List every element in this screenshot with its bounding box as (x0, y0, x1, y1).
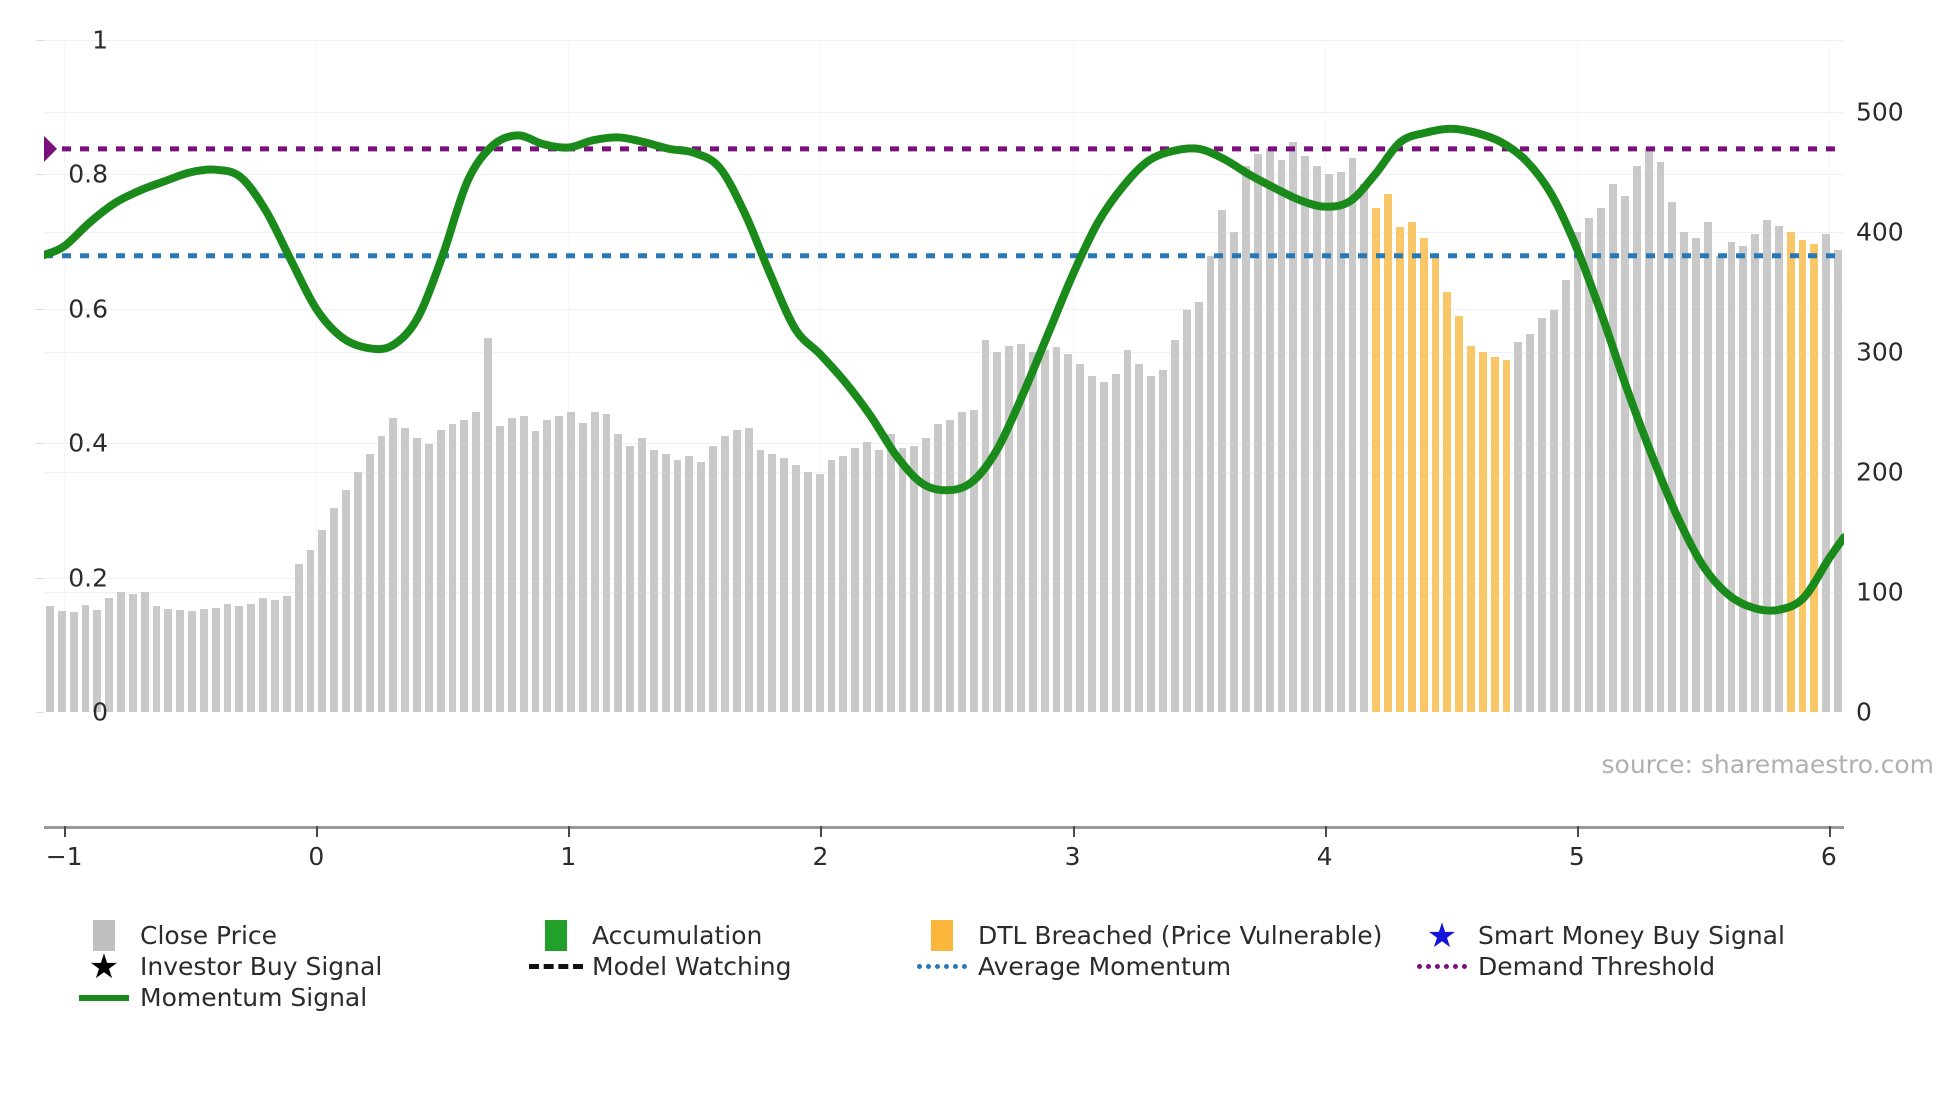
x-axis-tick-label: 2 (813, 842, 829, 871)
left-axis-tick-mark (36, 40, 44, 41)
square-swatch-icon (910, 920, 974, 951)
dotted-line-icon (910, 951, 974, 982)
legend-item-label: Model Watching (588, 952, 792, 981)
momentum-chart-figure: 00.20.40.60.81 0100200300400500 −1012345… (0, 0, 1960, 1102)
plot-clip (44, 40, 1844, 712)
legend-item-label: Accumulation (588, 921, 762, 950)
source-note: source: sharemaestro.com (1602, 750, 1935, 779)
legend-item[interactable]: DTL Breached (Price Vulnerable) (910, 920, 1410, 951)
left-axis-tick-mark (36, 174, 44, 175)
x-axis-tick-label: 5 (1569, 842, 1585, 871)
left-axis-tick-label: 0.4 (68, 429, 108, 458)
series-lines-layer (44, 40, 1844, 712)
dotted-line-icon (1410, 951, 1474, 982)
legend-item[interactable]: ★Investor Buy Signal (72, 951, 524, 982)
legend-item[interactable]: Model Watching (524, 951, 910, 982)
demand-threshold-marker (44, 136, 57, 162)
left-axis-tick-mark (36, 712, 44, 713)
x-axis-tick-label: 1 (560, 842, 576, 871)
legend-item[interactable]: Accumulation (524, 920, 910, 951)
legend-swatch (529, 964, 583, 969)
solid-line-icon (72, 982, 136, 1013)
legend-swatch (79, 995, 129, 1001)
x-axis-tick-label: −1 (46, 842, 83, 871)
left-axis-tick-mark (36, 309, 44, 310)
legend-swatch (917, 964, 967, 969)
legend-item[interactable]: Close Price (72, 920, 524, 951)
star-icon: ★ (72, 951, 136, 982)
left-axis-tick-label: 0.2 (68, 563, 108, 592)
legend-swatch (545, 920, 567, 951)
x-axis-tick-mark (568, 826, 570, 837)
legend-item-label: Average Momentum (974, 952, 1231, 981)
x-axis-tick-label: 6 (1821, 842, 1837, 871)
legend-swatch: ★ (1427, 919, 1457, 953)
x-axis-tick-mark (1577, 826, 1579, 837)
legend-item-label: Investor Buy Signal (136, 952, 382, 981)
left-axis-tick-mark (36, 578, 44, 579)
legend-item[interactable]: Demand Threshold (1410, 951, 1850, 982)
legend-item[interactable]: ★Smart Money Buy Signal (1410, 920, 1850, 951)
star-icon: ★ (1410, 920, 1474, 951)
plot-area (44, 40, 1844, 712)
x-axis-tick-mark (820, 826, 822, 837)
legend-item-label: DTL Breached (Price Vulnerable) (974, 921, 1382, 950)
legend-item[interactable]: Average Momentum (910, 951, 1410, 982)
left-axis-tick-label: 0.8 (68, 160, 108, 189)
dashed-line-icon (524, 951, 588, 982)
left-axis-tick-label: 0.6 (68, 294, 108, 323)
right-axis-tick-label: 400 (1856, 218, 1904, 247)
left-axis-tick-label: 0 (92, 698, 108, 727)
legend-swatch: ★ (89, 950, 119, 984)
x-axis-tick-mark (316, 826, 318, 837)
legend-swatch (1417, 964, 1467, 969)
momentum-signal-line (44, 129, 1844, 611)
x-axis-tick-mark (1325, 826, 1327, 837)
left-axis-tick-label: 1 (92, 26, 108, 55)
x-axis-tick-mark (1073, 826, 1075, 837)
x-axis-line (44, 826, 1844, 829)
x-axis-tick-mark (1829, 826, 1831, 837)
square-swatch-icon (524, 920, 588, 951)
left-axis-tick-mark (36, 443, 44, 444)
x-axis-tick-label: 3 (1065, 842, 1081, 871)
right-axis-tick-label: 0 (1856, 698, 1872, 727)
x-axis-tick-label: 4 (1317, 842, 1333, 871)
chart-legend: Close PriceAccumulationDTL Breached (Pri… (72, 920, 1952, 1013)
legend-item[interactable]: Momentum Signal (72, 982, 524, 1013)
right-axis-tick-label: 500 (1856, 98, 1904, 127)
x-axis-tick-mark (64, 826, 66, 837)
right-axis-tick-label: 200 (1856, 458, 1904, 487)
legend-item-label: Smart Money Buy Signal (1474, 921, 1785, 950)
legend-item-label: Momentum Signal (136, 983, 367, 1012)
right-axis-tick-label: 100 (1856, 578, 1904, 607)
legend-item-label: Demand Threshold (1474, 952, 1715, 981)
x-axis-tick-label: 0 (308, 842, 324, 871)
legend-item-label: Close Price (136, 921, 277, 950)
legend-swatch (931, 920, 953, 951)
right-axis-tick-label: 300 (1856, 338, 1904, 367)
